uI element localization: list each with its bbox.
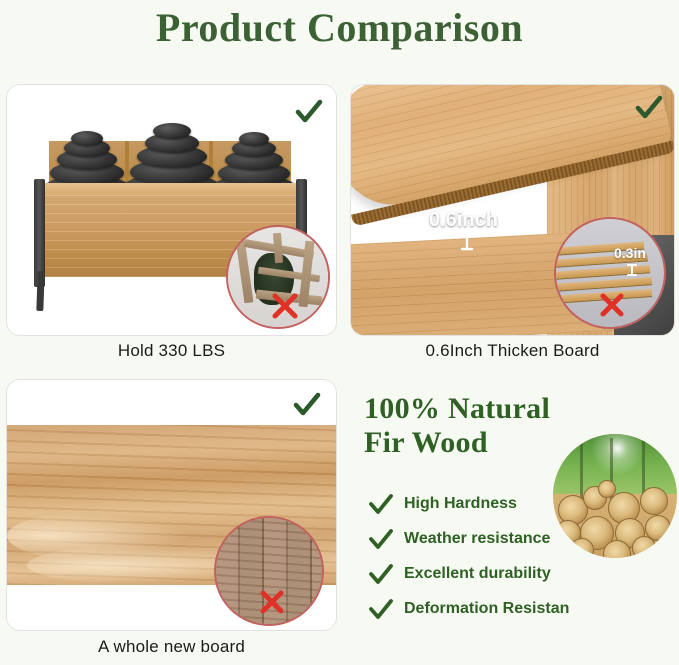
feature-label: Deformation Resistan xyxy=(404,600,569,618)
check-icon xyxy=(294,97,324,127)
x-icon xyxy=(258,588,286,616)
comparison-panel-whole-new-board xyxy=(6,379,337,631)
comparison-panel-hold-330-lbs xyxy=(6,84,337,336)
dimension-marker-icon xyxy=(626,263,638,277)
log xyxy=(598,480,616,498)
check-icon xyxy=(634,93,664,123)
feature-label: Excellent durability xyxy=(404,565,551,583)
weight-plate xyxy=(239,132,269,146)
check-icon xyxy=(368,493,394,515)
weight-plate xyxy=(71,131,103,146)
x-icon xyxy=(270,291,300,321)
x-icon xyxy=(598,291,626,319)
panel-caption-thicken-board: 0.6Inch Thicken Board xyxy=(350,341,675,361)
forest-logs-photo xyxy=(553,434,677,558)
feature-label: High Hardness xyxy=(404,495,517,513)
feature-item-deformation-resistant: Deformation Resistan xyxy=(368,593,628,624)
thickness-label-03in: 0.3in xyxy=(614,245,646,261)
planter-leg xyxy=(36,271,44,311)
broken-slat xyxy=(273,233,283,263)
check-icon xyxy=(368,563,394,585)
panel-caption-whole-new-board: A whole new board xyxy=(6,637,337,657)
log xyxy=(632,536,656,558)
inset-circle-old-weathered-wood xyxy=(214,516,324,626)
weight-plate xyxy=(153,123,191,139)
log xyxy=(570,538,594,558)
check-icon xyxy=(368,528,394,550)
check-icon xyxy=(292,390,322,420)
feature-heading-line1: 100% Natural xyxy=(364,392,679,426)
page-title: Product Comparison xyxy=(0,2,679,54)
inset-circle-broken-planter xyxy=(226,225,330,329)
panel-caption-hold-330-lbs: Hold 330 LBS xyxy=(6,341,337,361)
feature-item-excellent-durability: Excellent durability xyxy=(368,558,628,589)
log-pile xyxy=(553,481,677,558)
thickness-label-06inch: 0.6inch xyxy=(429,209,498,232)
comparison-panel-thicken-board: 0.6inch 0.3in xyxy=(350,84,675,336)
check-icon xyxy=(368,598,394,620)
feature-label: Weather resistance xyxy=(404,530,550,548)
broken-slat xyxy=(236,239,254,304)
inset-circle-thin-boards: 0.3in xyxy=(554,217,666,329)
fir-wood-feature-block: 100% Natural Fir Wood High Hardness Weat… xyxy=(364,392,679,640)
log xyxy=(640,487,668,515)
dimension-marker-icon xyxy=(459,233,475,251)
